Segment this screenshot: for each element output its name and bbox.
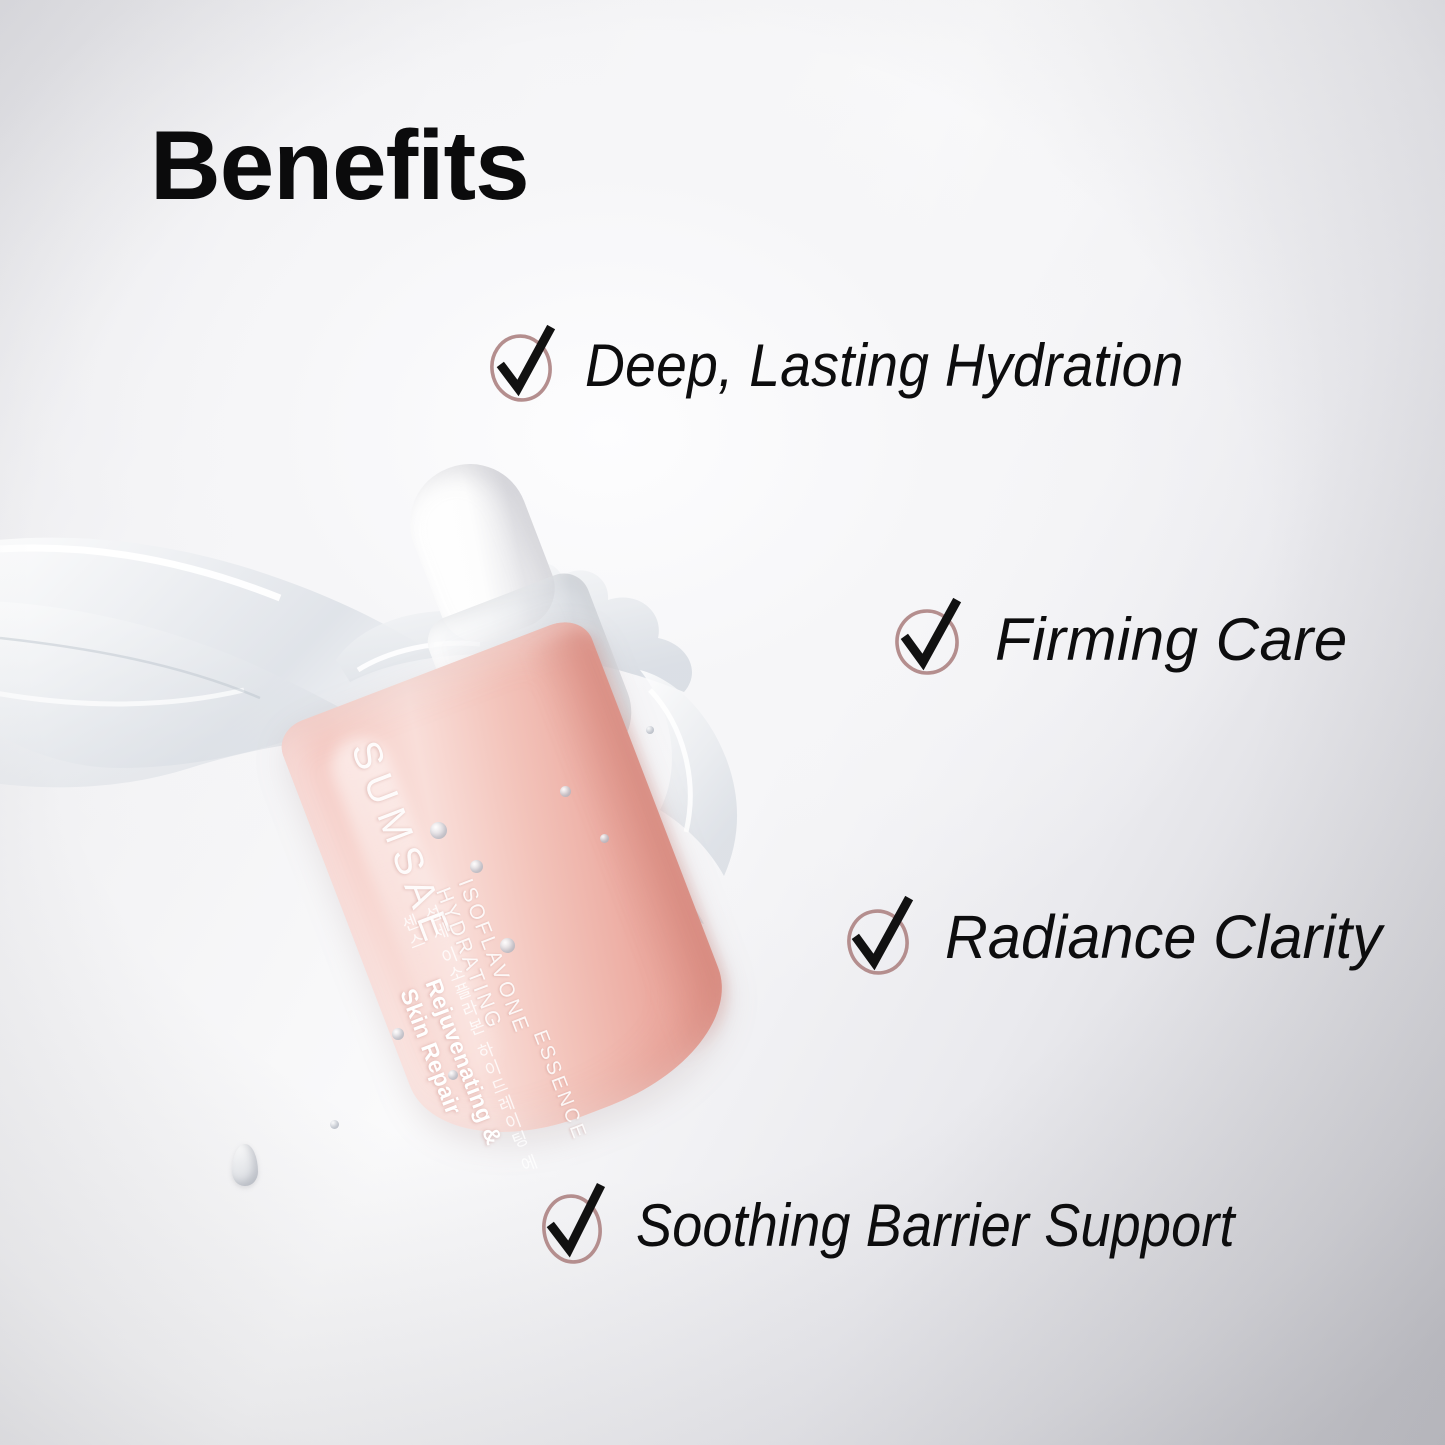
water-bead <box>470 860 483 873</box>
product-bottle: SUMSAE ISOFLAVONE HYDRATING ESSENCE 섬세 이… <box>170 404 860 1226</box>
benefit-label: Radiance Clarity <box>945 902 1382 972</box>
check-circle-icon <box>893 600 967 678</box>
water-bead <box>448 1070 458 1080</box>
water-droplet <box>232 1144 258 1186</box>
water-bead <box>500 938 515 953</box>
benefit-item: Radiance Clarity <box>845 898 1396 976</box>
product-photo: SUMSAE ISOFLAVONE HYDRATING ESSENCE 섬세 이… <box>0 430 960 1260</box>
benefit-item: Firming Care <box>893 600 1348 678</box>
benefit-label: Firming Care <box>995 605 1348 674</box>
benefit-item: Soothing Barrier Support <box>538 1186 1301 1264</box>
product-benefits-image: SUMSAE ISOFLAVONE HYDRATING ESSENCE 섬세 이… <box>0 0 1445 1445</box>
page-title: Benefits <box>150 116 529 214</box>
benefit-label: Soothing Barrier Support <box>636 1191 1235 1260</box>
water-bead <box>430 822 447 839</box>
water-bead <box>560 786 571 797</box>
water-bead <box>646 726 654 734</box>
check-circle-icon <box>538 1186 612 1264</box>
benefit-item: Deep, Lasting Hydration <box>487 326 1236 404</box>
benefit-label: Deep, Lasting Hydration <box>585 331 1184 400</box>
water-bead <box>392 1028 404 1040</box>
water-bead <box>600 834 609 843</box>
check-circle-icon <box>845 898 919 976</box>
check-circle-icon <box>487 326 561 404</box>
water-bead <box>330 1120 339 1129</box>
